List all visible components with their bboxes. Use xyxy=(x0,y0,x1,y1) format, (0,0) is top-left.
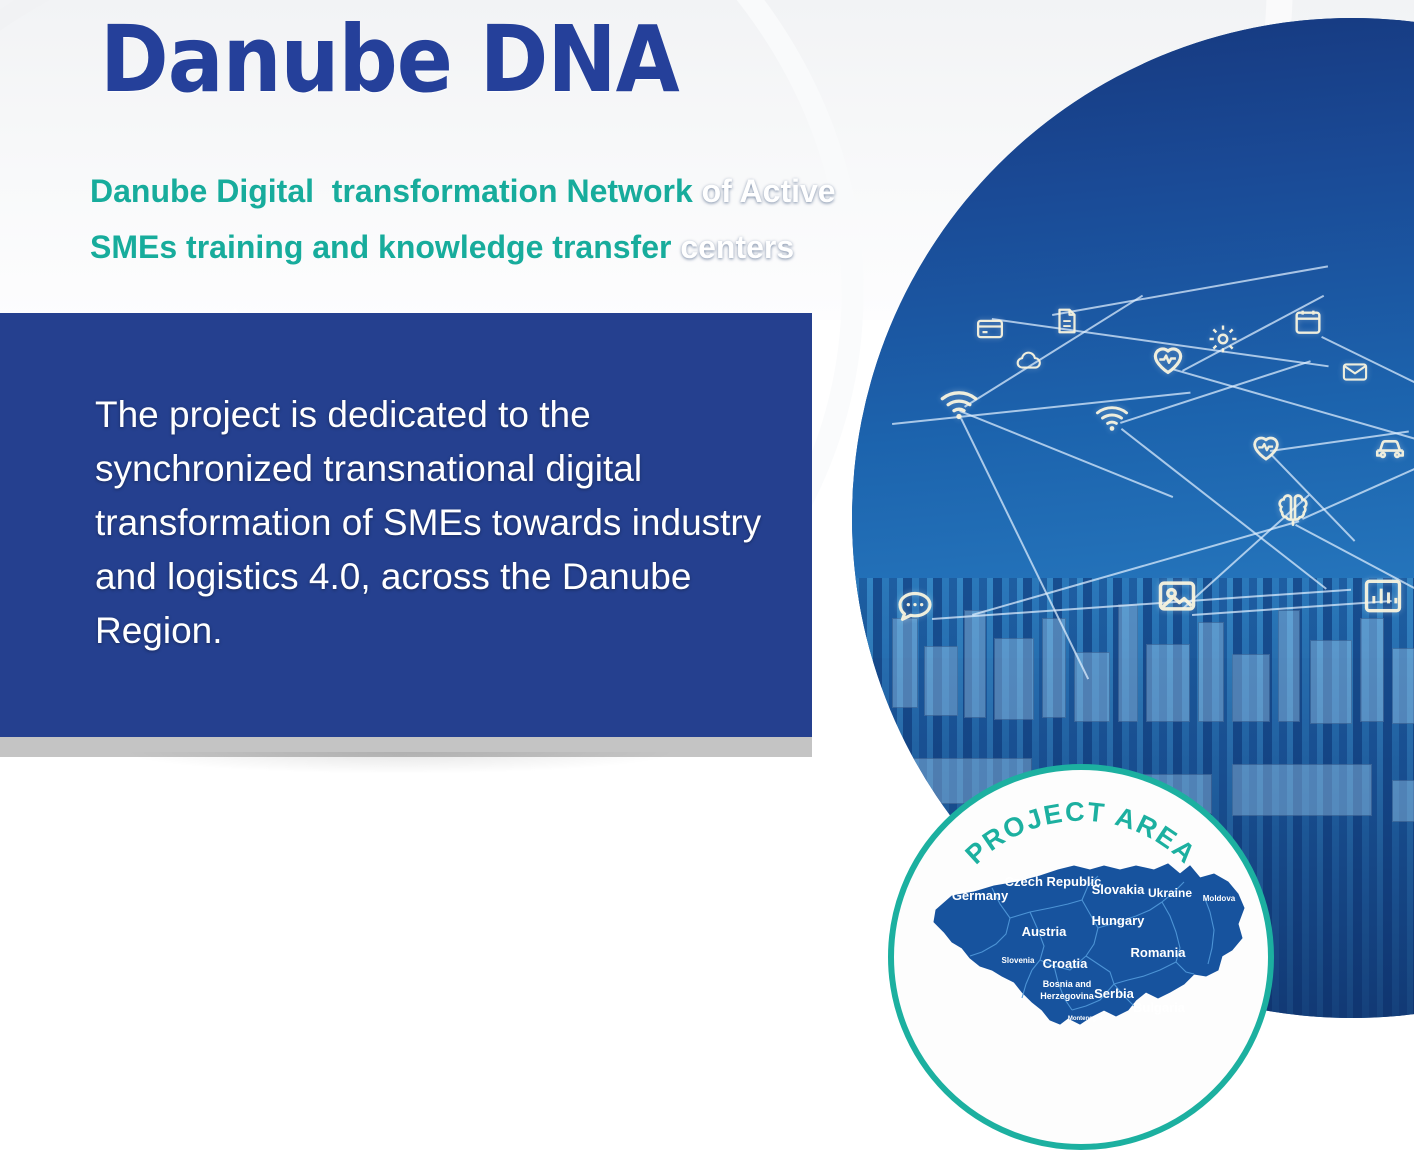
subtitle-line1-white: of Active xyxy=(693,173,836,209)
map-country-label: Ukraine xyxy=(1148,886,1192,900)
credit-card-icon xyxy=(970,314,1010,344)
map-country-label: Slovakia xyxy=(1092,882,1146,897)
map-country-label: Croatia xyxy=(1043,956,1089,971)
mail-icon xyxy=(1338,358,1372,386)
photo-frame-icon xyxy=(1154,574,1200,618)
building-block xyxy=(1310,640,1352,724)
building-block xyxy=(964,610,986,718)
subtitle-line2-white: centers xyxy=(680,229,794,265)
building-block xyxy=(994,638,1034,720)
wifi-icon xyxy=(1092,400,1132,435)
subtitle-line2-teal: SMEs training and knowledge transfer xyxy=(90,229,680,265)
map-country-label: Bosnia and xyxy=(1043,979,1092,989)
map-country-label: Montenegro xyxy=(1068,1016,1103,1022)
chart-bar-icon xyxy=(1360,574,1406,618)
calendar-icon xyxy=(1292,306,1324,338)
building-block xyxy=(1198,622,1224,722)
wifi-icon xyxy=(936,384,982,424)
map-country-label: Serbia xyxy=(1094,986,1135,1001)
building-block xyxy=(1118,604,1138,722)
building-block xyxy=(1042,618,1066,718)
brain-icon xyxy=(1272,488,1314,528)
description-text: The project is dedicated to the synchron… xyxy=(95,388,775,658)
building-block xyxy=(1392,780,1414,822)
building-block xyxy=(1278,610,1300,722)
cloud-icon xyxy=(1010,346,1048,374)
map-country-label: Romania xyxy=(1131,945,1187,960)
building-block xyxy=(1392,648,1414,724)
chat-bubble-icon xyxy=(892,586,938,626)
building-block xyxy=(1232,764,1372,816)
map-country-label: Moldova xyxy=(1203,894,1236,903)
heart-pulse-icon xyxy=(1248,430,1284,464)
heart-pulse-icon xyxy=(1148,340,1188,378)
subtitle-line1-teal: Danube Digital transformation Network xyxy=(90,173,693,209)
building-block xyxy=(1146,644,1190,722)
panel-drop-shadow xyxy=(120,752,680,774)
building-block xyxy=(924,646,958,716)
car-icon xyxy=(1368,430,1412,464)
map-country-label: Bulgaria xyxy=(1133,1000,1186,1015)
document-icon xyxy=(1052,304,1082,338)
map-country-label: Czech Republic xyxy=(1005,874,1102,889)
building-block xyxy=(892,618,918,708)
map-country-label: Germany xyxy=(952,888,1009,903)
building-block xyxy=(1232,654,1270,722)
building-block xyxy=(1360,618,1384,722)
map-country-label: Austria xyxy=(1022,924,1068,939)
danube-region-map: GermanyCzech RepublicSlovakiaUkraineMold… xyxy=(922,852,1252,1042)
map-country-label: Hungary xyxy=(1092,913,1146,928)
gear-icon xyxy=(1206,322,1240,356)
map-country-label: Herzegovina xyxy=(1040,991,1095,1001)
page-title: Danube DNA xyxy=(100,12,679,109)
map-country-label: Slovenia xyxy=(1002,956,1035,965)
page-subtitle: Danube Digital transformation Network of… xyxy=(90,163,1240,275)
